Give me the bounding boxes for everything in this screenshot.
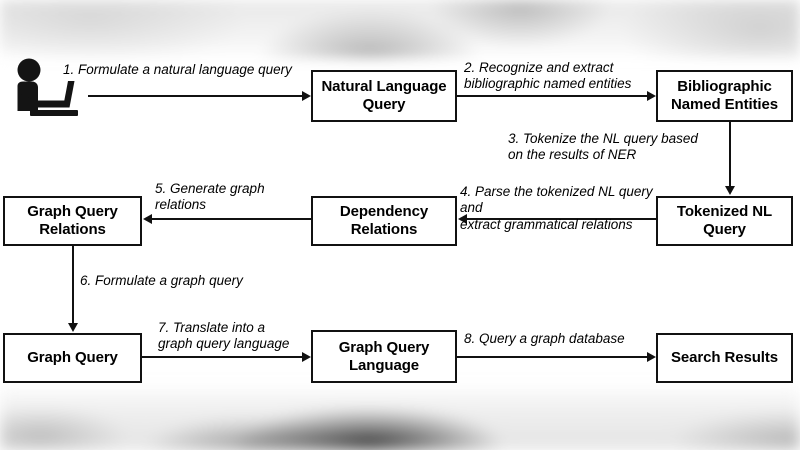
top-blur-band [0,0,800,58]
edge-1-line [88,95,302,97]
edge-2-label: 2. Recognize and extract bibliographic n… [464,60,652,93]
edge-8-label: 8. Query a graph database [464,331,664,347]
node-graph-query-relations[interactable]: Graph Query Relations [3,196,142,246]
edge-3-arrowhead [725,186,735,195]
node-label: Search Results [667,349,782,367]
bottom-blur-band [0,384,800,450]
diagram-canvas: Natural Language Query Bibliographic Nam… [0,0,800,450]
edge-5-line [152,218,311,220]
node-dependency-relations[interactable]: Dependency Relations [311,196,457,246]
edge-6-line [72,246,74,324]
node-graph-query[interactable]: Graph Query [3,333,142,383]
node-bibliographic-named-entities[interactable]: Bibliographic Named Entities [656,70,793,122]
edge-5-label: 5. Generate graph relations [155,181,305,214]
node-natural-language-query[interactable]: Natural Language Query [311,70,457,122]
edge-3-label: 3. Tokenize the NL query based on the re… [508,131,718,164]
edge-2-line [457,95,647,97]
edge-6-label: 6. Formulate a graph query [80,273,310,289]
edge-5-arrowhead [143,214,152,224]
edge-7-arrowhead [302,352,311,362]
edge-8-line [457,356,647,358]
node-label: Tokenized NL Query [658,203,791,238]
node-label: Natural Language Query [313,78,455,113]
edge-6-arrowhead [68,323,78,332]
node-graph-query-language[interactable]: Graph Query Language [311,330,457,383]
edge-3-line [729,122,731,187]
node-label: Bibliographic Named Entities [658,78,791,113]
edge-4-label: 4. Parse the tokenized NL query and extr… [460,184,660,233]
edge-7-label: 7. Translate into a graph query language [158,320,308,353]
node-tokenized-nl-query[interactable]: Tokenized NL Query [656,196,793,246]
edge-8-arrowhead [647,352,656,362]
node-label: Graph Query Language [313,339,455,374]
node-label: Graph Query [23,349,122,367]
edge-7-line [142,356,302,358]
node-label: Dependency Relations [313,203,455,238]
edge-1-label: 1. Formulate a natural language query [63,62,313,78]
node-search-results[interactable]: Search Results [656,333,793,383]
edge-1-arrowhead [302,91,311,101]
node-label: Graph Query Relations [5,203,140,238]
